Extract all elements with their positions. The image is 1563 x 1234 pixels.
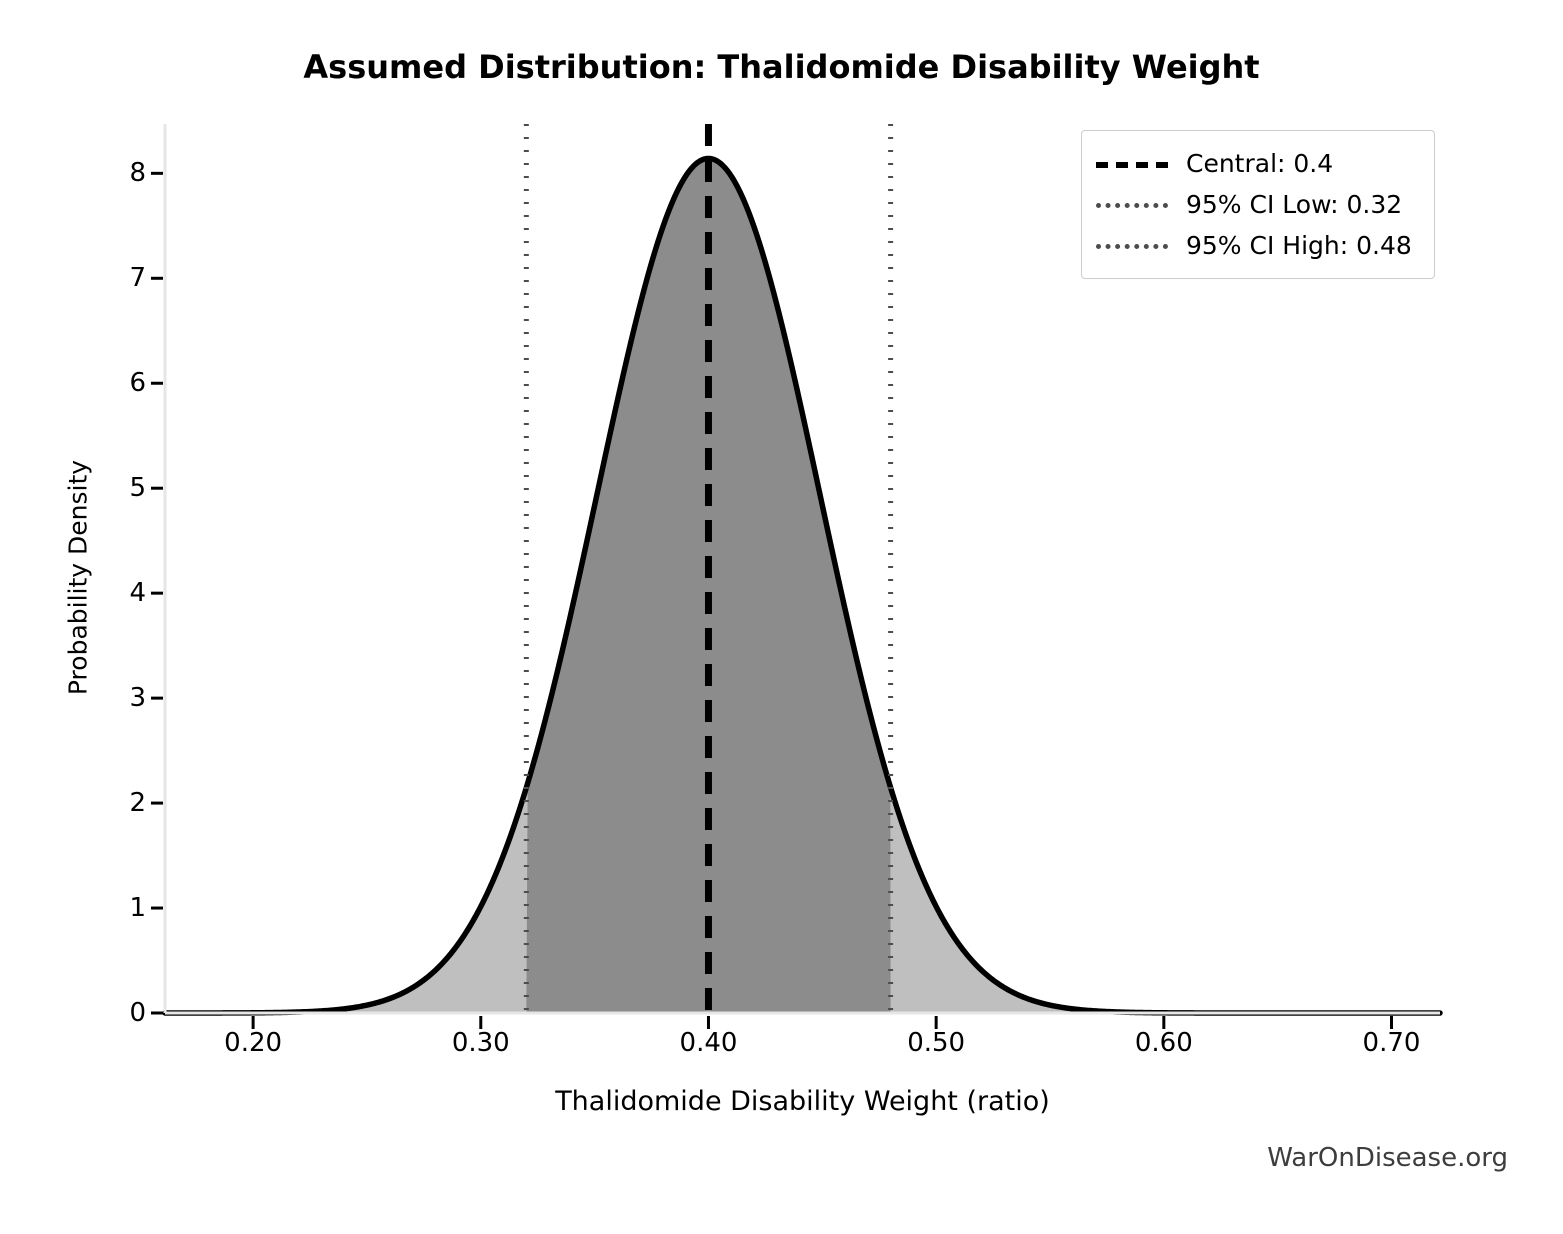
legend-item-central: Central: 0.4 (1096, 143, 1420, 184)
legend: Central: 0.4 95% CI Low: 0.32 95% CI Hig… (1081, 130, 1435, 279)
figure-canvas: Assumed Distribution: Thalidomide Disabi… (0, 0, 1563, 1234)
legend-item-ci-high: 95% CI High: 0.48 (1096, 225, 1420, 266)
x-tick-label: 0.70 (1363, 1028, 1421, 1058)
y-tick-label: 8 (118, 158, 146, 188)
y-tick-label: 2 (118, 788, 146, 818)
y-tick-label: 0 (118, 998, 146, 1028)
x-tick-label: 0.60 (1135, 1028, 1193, 1058)
dashed-line-icon (1096, 154, 1168, 174)
watermark: WarOnDisease.org (1267, 1143, 1508, 1173)
legend-label-ci-low: 95% CI Low: 0.32 (1186, 190, 1402, 219)
y-tick-label: 6 (118, 368, 146, 398)
y-tick-label: 4 (118, 578, 146, 608)
y-tick-label: 5 (118, 473, 146, 503)
legend-label-central: Central: 0.4 (1186, 149, 1333, 178)
legend-item-ci-low: 95% CI Low: 0.32 (1096, 184, 1420, 225)
x-tick-label: 0.50 (907, 1028, 965, 1058)
y-tick-label: 3 (118, 683, 146, 713)
y-tick-label: 7 (118, 263, 146, 293)
x-tick-label: 0.40 (680, 1028, 738, 1058)
dotted-line-icon (1096, 236, 1168, 256)
legend-label-ci-high: 95% CI High: 0.48 (1186, 231, 1412, 260)
dotted-line-icon (1096, 195, 1168, 215)
x-tick-label: 0.20 (224, 1028, 282, 1058)
x-tick-label: 0.30 (452, 1028, 510, 1058)
y-tick-label: 1 (118, 893, 146, 923)
